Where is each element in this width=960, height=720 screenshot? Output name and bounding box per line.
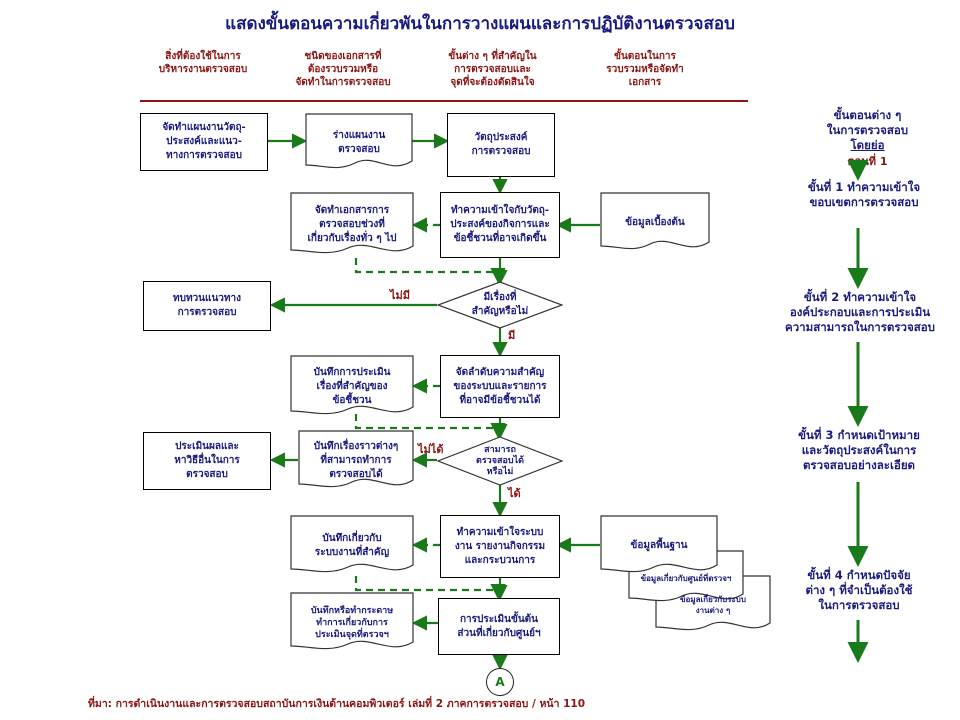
node-base-data-2-line1: ข้อมูลเกี่ยวกับศูนย์ที่ตรวจฯ [637,573,735,584]
node-decision-can-audit-line3: หรือไม่ [441,467,559,478]
node-base-data-label: ข้อมูลพื้นฐาน [604,539,714,553]
node-record-working-paper-line1: บันทึกหรือทำกระดาษ [299,605,405,617]
node-record-evaluation-line3: ข้อชี้ชวน [299,394,405,408]
node-record-evaluation-label: บันทึกการประเมิน เรื่องที่สำคัญของ ข้อชี… [294,366,410,408]
node-base-data-2-label: ข้อมูลเกี่ยวกับศูนย์ที่ตรวจฯ [632,573,740,584]
node-initial-data-label: ข้อมูลเบื้องต้น [604,216,706,230]
node-decision-significant-line1: มีเรื่องที่ [441,291,559,305]
node-base-data-line1: ข้อมูลพื้นฐาน [609,539,709,553]
sidebar-spine [0,0,960,720]
node-general-documents-line2: ตรวจสอบช่วงที่ [299,218,405,232]
node-record-auditable-items-line1: บันทึกเรื่องราวต่างๆ [307,440,405,454]
node-record-key-systems-label: บันทึกเกี่ยวกับ ระบบงานที่สำคัญ [294,532,410,560]
node-record-evaluation-line1: บันทึกการประเมิน [299,366,405,380]
node-general-documents-label: จัดทำเอกสารการ ตรวจสอบช่วงที่ เกี่ยวกับเ… [294,204,410,246]
node-record-key-systems-line1: บันทึกเกี่ยวกับ [299,532,405,546]
node-decision-can-audit-line1: สามารถ [441,445,559,456]
node-record-working-paper-label: บันทึกหรือทำกระดาษ ทำการเกี่ยวกับการ ประ… [294,605,410,641]
node-draft-plan-line1: ร่างแผนงาน [314,129,404,143]
flowchart-diagram: แสดงขั้นตอนความเกี่ยวพันในการวางแผนและกา… [0,0,960,720]
node-record-auditable-items-line3: ตรวจสอบได้ [307,468,405,482]
node-general-documents-line3: เกี่ยวกับเรื่องทั่ว ๆ ไป [299,232,405,246]
source-footer: ที่มา: การดำเนินงานและการตรวจสอบสถาบันกา… [88,695,585,712]
node-record-working-paper-line3: ประเมินจุดที่ตรวจฯ [299,629,405,641]
node-general-documents-line1: จัดทำเอกสารการ [299,204,405,218]
node-base-data-3-line1: ข้อมูลเกี่ยวกับระบบ [664,594,762,605]
node-record-auditable-items-line2: ที่สามารถทำการ [307,454,405,468]
node-decision-can-audit-label: สามารถ ตรวจสอบได้ หรือไม่ [441,445,559,478]
node-decision-can-audit-line2: ตรวจสอบได้ [441,456,559,467]
node-record-auditable-items-label: บันทึกเรื่องราวต่างๆ ที่สามารถทำการ ตรวจ… [302,440,410,482]
node-decision-significant-label: มีเรื่องที่ สำคัญหรือไม่ [441,291,559,319]
node-decision-significant-line2: สำคัญหรือไม่ [441,305,559,319]
node-initial-data-line1: ข้อมูลเบื้องต้น [609,216,701,230]
node-base-data-3-line2: งานต่าง ๆ [664,605,762,616]
node-record-evaluation-line2: เรื่องที่สำคัญของ [299,380,405,394]
node-record-key-systems-line2: ระบบงานที่สำคัญ [299,546,405,560]
node-draft-plan-line2: ตรวจสอบ [314,143,404,157]
node-base-data-3-label: ข้อมูลเกี่ยวกับระบบ งานต่าง ๆ [659,594,767,616]
node-draft-plan-label: ร่างแผนงาน ตรวจสอบ [309,129,409,157]
node-record-working-paper-line2: ทำการเกี่ยวกับการ [299,617,405,629]
